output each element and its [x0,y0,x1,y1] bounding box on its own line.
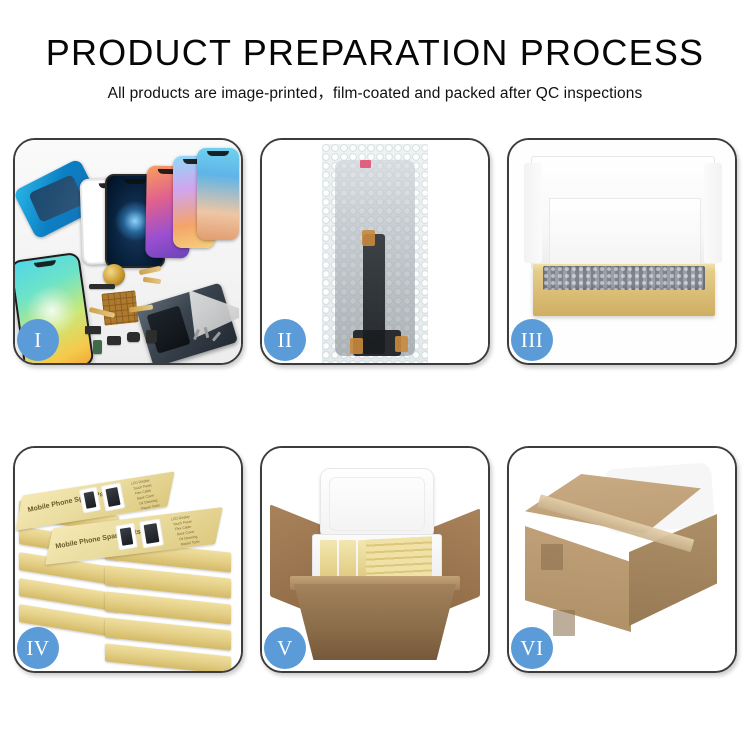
white-foam-sheet [549,198,701,272]
foam-box-lid [320,468,434,540]
step-badge-1: I [17,319,59,361]
process-step-1: I [13,138,243,365]
gradient-phone-3 [197,148,239,240]
carton-body [294,584,456,660]
step-badge-3: III [511,319,553,361]
process-step-2: II [260,138,490,365]
pink-label-sticker [360,160,371,168]
process-step-6: VI [507,446,737,673]
screws-group [193,325,227,347]
process-step-4: Mobile Phone Spare Parts LCD Display Tou… [13,446,243,673]
product-preparation-infographic: PRODUCT PREPARATION PROCESS All products… [0,0,750,750]
process-step-5: V [260,446,490,673]
process-step-grid: I II [13,138,737,673]
carton-tab-lower [553,610,575,636]
carton-tab-upper [541,544,563,570]
page-subtitle: All products are image-printed，film-coat… [0,81,750,103]
header: PRODUCT PREPARATION PROCESS All products… [0,0,750,103]
step-badge-4: IV [17,627,59,669]
orange-tape-3 [395,336,408,352]
step-badge-2: II [264,319,306,361]
orange-tape-2 [350,338,363,354]
copper-coil-part [103,264,125,286]
step-badge-6: VI [511,627,553,669]
process-step-3: III [507,138,737,365]
orange-tape-1 [362,230,375,246]
bubble-wrapped-contents [543,266,705,290]
step-badge-5: V [264,627,306,669]
page-title: PRODUCT PREPARATION PROCESS [0,34,750,72]
bubble-wrap-package [322,144,428,363]
